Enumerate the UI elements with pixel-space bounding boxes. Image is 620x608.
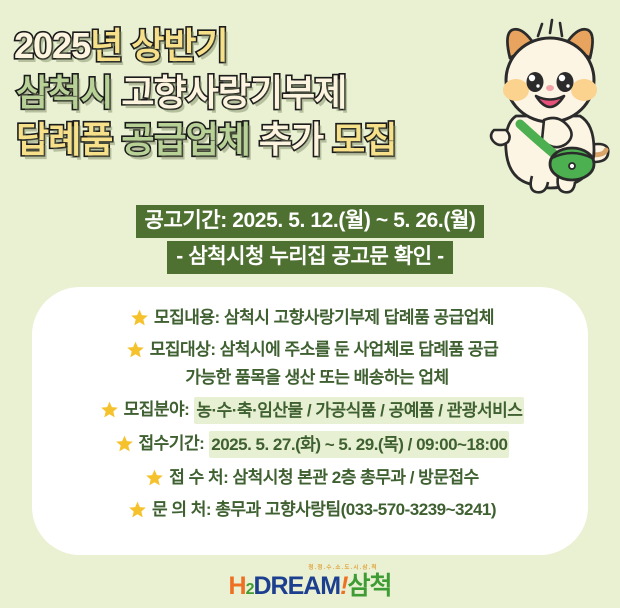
title-line-3-seg-2: 공급업체: [121, 119, 258, 160]
title-line-3: 답례품 공급업체 추가 모집: [14, 116, 494, 163]
star-icon: [100, 400, 119, 419]
list-item: 모집대상: 삼척시에 주소를 둔 사업체로 답례품 공급: [32, 337, 588, 362]
banner-row-1: 공고기간: 2025. 5. 12.(월) ~ 5. 26.(월): [0, 205, 620, 238]
title-line-3-seg-4: 모집: [332, 119, 396, 160]
info-item-text-5: 문 의 처: 총무과 고향사랑팀(033-570-3239~3241): [152, 497, 496, 522]
title-line-2-seg-1: 삼척시: [16, 72, 121, 113]
list-item: 문 의 처: 총무과 고향사랑팀(033-570-3239~3241): [32, 497, 588, 522]
logo-slogan: 청.정.수.소.도.시.삼.척: [66, 563, 620, 571]
title-line-1-seg-1: 2025: [14, 25, 90, 66]
banner-row-2: - 삼척시청 누리집 공고문 확인 -: [0, 241, 620, 274]
title-line-1-seg-2: 년 상반기: [90, 25, 227, 66]
star-icon: [130, 308, 149, 327]
list-item: 모집내용: 삼척시 고향사랑기부제 답례품 공급업체: [32, 305, 588, 330]
banner-line-1: 공고기간: 2025. 5. 12.(월) ~ 5. 26.(월): [136, 205, 485, 238]
info-item-label-3: 접수기간:: [139, 431, 205, 456]
city-logo: 청.정.수.소.도.시.삼.척 H2DREAM!삼척: [0, 563, 620, 604]
title-line-3-seg-1: 답례품: [16, 119, 121, 160]
logo-dream: DREAM: [253, 572, 340, 600]
star-icon: [128, 500, 147, 519]
list-item: 모집분야: 농·수·축·임산물 / 가공식품 / 공예품 / 관광서비스: [32, 397, 588, 424]
info-item-value-3: 2025. 5. 27.(화) ~ 5. 29.(목) / 09:00~18:0…: [209, 431, 509, 458]
title-line-3-seg-3: 추가: [259, 119, 332, 160]
info-item-text-1: 모집대상: 삼척시에 주소를 둔 사업체로 답례품 공급: [150, 337, 498, 362]
title-line-1: 2025년 상반기: [14, 22, 494, 69]
logo-h: H: [229, 572, 246, 600]
title-line-2-seg-2: 고향사랑기부제: [121, 72, 346, 113]
info-item-continuation-1: 가능한 품목을 생산 또는 배송하는 업체: [56, 365, 588, 390]
logo-wordmark: H2DREAM!삼척: [0, 572, 620, 604]
banner-line-2: - 삼척시청 누리집 공고문 확인 -: [167, 241, 452, 274]
star-icon: [126, 340, 145, 359]
star-icon: [115, 434, 134, 453]
list-item: 접 수 처: 삼척시청 본관 2층 총무과 / 방문접수: [32, 465, 588, 490]
info-list: 모집내용: 삼척시 고향사랑기부제 답례품 공급업체 모집대상: 삼척시에 주소…: [32, 287, 588, 522]
info-item-label-2: 모집분야:: [124, 397, 190, 422]
star-icon: [145, 468, 164, 487]
info-item-text-0: 모집내용: 삼척시 고향사랑기부제 답례품 공급업체: [154, 305, 494, 330]
title-line-2: 삼척시 고향사랑기부제: [14, 69, 494, 116]
poster-title: 2025년 상반기 삼척시 고향사랑기부제 답례품 공급업체 추가 모집: [14, 22, 494, 163]
announcement-banner: 공고기간: 2025. 5. 12.(월) ~ 5. 26.(월) - 삼척시청…: [0, 205, 620, 274]
cat-mascot-illustration: [486, 8, 618, 198]
info-card: 모집내용: 삼척시 고향사랑기부제 답례품 공급업체 모집대상: 삼척시에 주소…: [32, 287, 588, 555]
list-item: 접수기간: 2025. 5. 27.(화) ~ 5. 29.(목) / 09:0…: [32, 431, 588, 458]
info-item-value-2: 농·수·축·임산물 / 가공식품 / 공예품 / 관광서비스: [194, 397, 524, 424]
logo-korean: 삼척: [347, 572, 391, 600]
info-item-text-4: 접 수 처: 삼척시청 본관 2층 총무과 / 방문접수: [169, 465, 479, 490]
cat-mascot-icon: [486, 8, 618, 198]
